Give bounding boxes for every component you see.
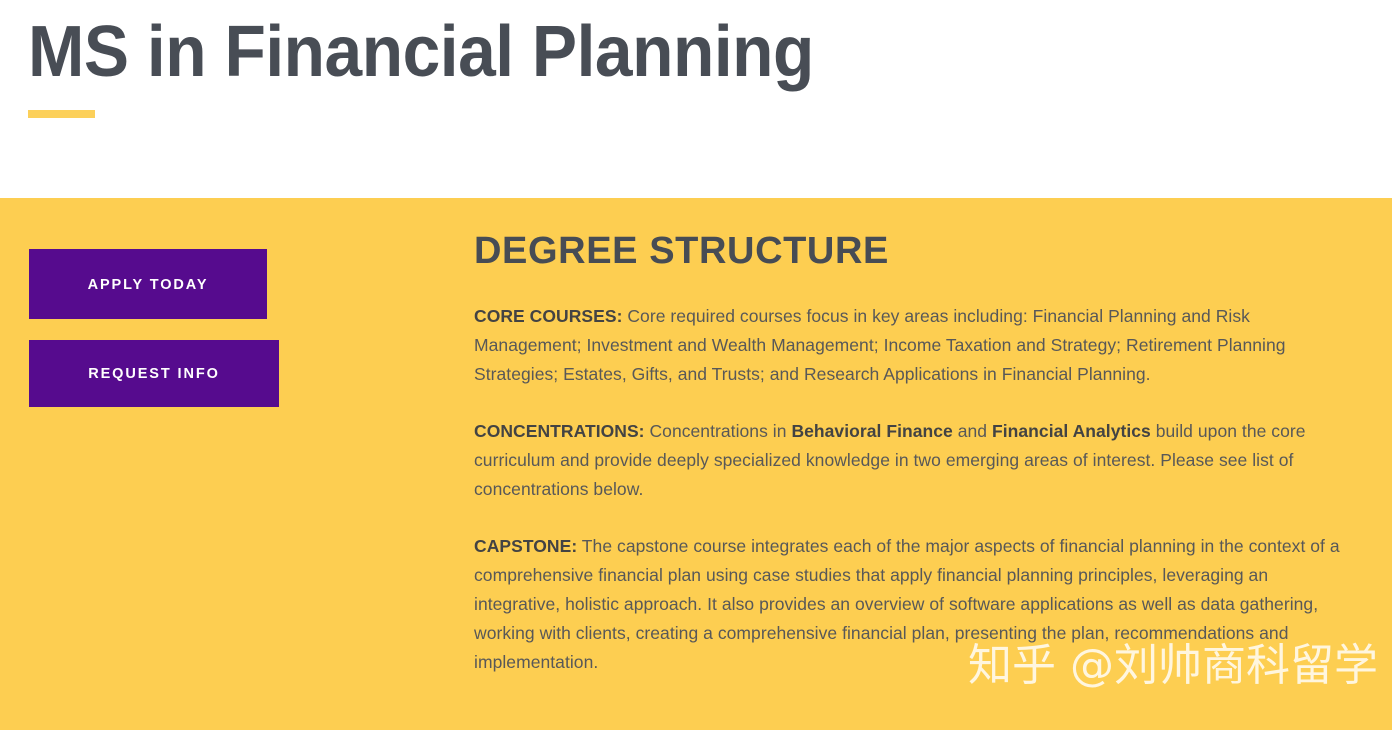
section-heading: DEGREE STRUCTURE (474, 230, 1344, 272)
core-courses-label: CORE COURSES: (474, 306, 622, 326)
page-root: MS in Financial Planning APPLY TODAY REQ… (0, 0, 1392, 730)
capstone-text: The capstone course integrates each of t… (474, 536, 1340, 672)
concentrations-text-2: and (953, 421, 992, 441)
concentrations-label: CONCENTRATIONS: (474, 421, 645, 441)
apply-today-button[interactable]: APPLY TODAY (29, 249, 267, 319)
capstone-label: CAPSTONE: (474, 536, 577, 556)
concentration-financial-analytics: Financial Analytics (992, 421, 1151, 441)
cta-button-group: APPLY TODAY REQUEST INFO (29, 249, 429, 407)
request-info-button[interactable]: REQUEST INFO (29, 340, 279, 407)
page-title: MS in Financial Planning (28, 9, 814, 95)
degree-structure-section: APPLY TODAY REQUEST INFO DEGREE STRUCTUR… (0, 198, 1392, 730)
page-header: MS in Financial Planning (0, 0, 1392, 198)
paragraph-core-courses: CORE COURSES: Core required courses focu… (474, 302, 1344, 389)
title-accent-rule (28, 110, 95, 118)
degree-structure-content: DEGREE STRUCTURE CORE COURSES: Core requ… (474, 230, 1344, 677)
concentration-behavioral-finance: Behavioral Finance (791, 421, 952, 441)
concentrations-text-1: Concentrations in (645, 421, 792, 441)
paragraph-concentrations: CONCENTRATIONS: Concentrations in Behavi… (474, 417, 1344, 504)
paragraph-capstone: CAPSTONE: The capstone course integrates… (474, 532, 1344, 677)
